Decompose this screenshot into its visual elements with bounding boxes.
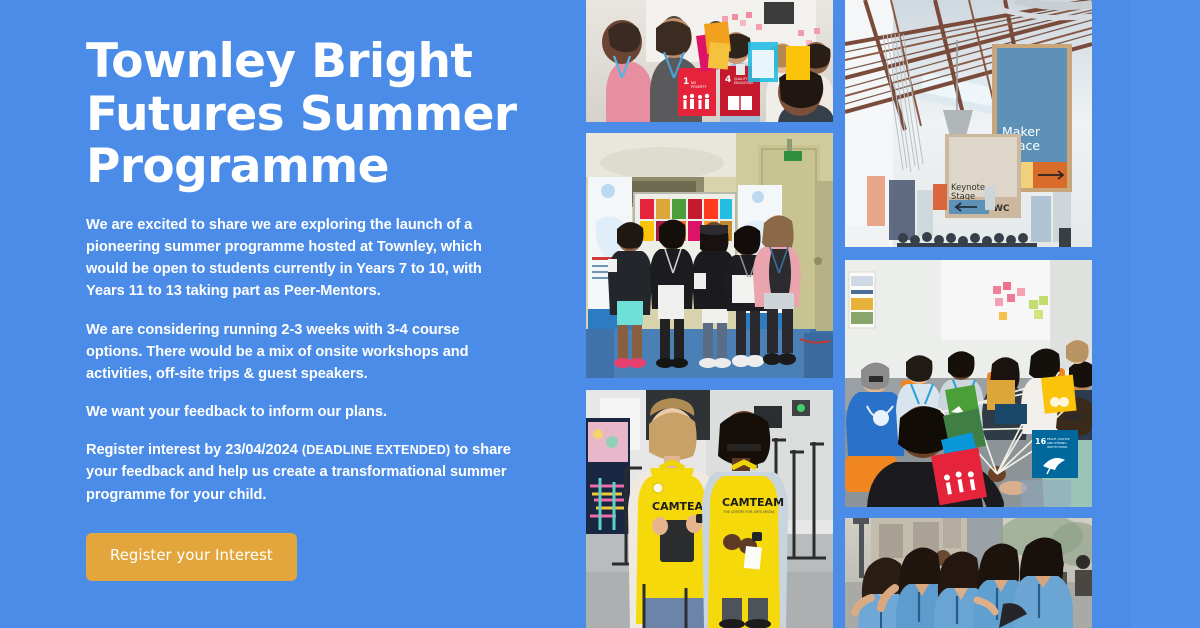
photo-string-web-workshop: 16 PEACE, JUSTICE AND STRONG INSTITUTION…: [845, 260, 1092, 507]
background-strip: [1131, 0, 1200, 628]
svg-text:POVERTY: POVERTY: [691, 85, 707, 89]
svg-text:1: 1: [683, 77, 689, 87]
hero-paragraph-1: We are excited to share we are exploring…: [86, 214, 518, 303]
photo-maker-space-venue: Maker Space Keynote Stage WC: [845, 0, 1092, 247]
photo-students-sdg-cards: 1 NO POVERTY 4 QUALITY EDUCATION: [586, 0, 833, 122]
deadline-emphasis: (DEADLINE EXTENDED): [302, 443, 451, 457]
svg-text:4: 4: [725, 75, 731, 85]
register-interest-button[interactable]: Register your Interest: [86, 533, 297, 581]
page-title: Townley Bright Futures Summer Programme: [86, 36, 526, 194]
deadline-text-before: Register interest by 23/04/2024: [86, 442, 302, 458]
photo-students-presenting: Five students standing side by side on a…: [586, 133, 833, 378]
svg-text:INSTITUTIONS: INSTITUTIONS: [1047, 445, 1067, 449]
hero-paragraph-3: We want your feedback to inform our plan…: [86, 401, 518, 423]
hero-content: Townley Bright Futures Summer Programme …: [86, 36, 526, 581]
photo-camteam-aprons: CAMTEAM C: [586, 390, 833, 628]
svg-text:Stage: Stage: [951, 191, 975, 201]
photo-students-blue-tshirts: Five students in light blue t-shirts wit…: [845, 518, 1092, 628]
svg-text:WC: WC: [993, 204, 1010, 214]
hero-paragraph-2: We are considering running 2-3 weeks wit…: [86, 319, 518, 386]
hero-deadline-paragraph: Register interest by 23/04/2024 (DEADLIN…: [86, 439, 514, 506]
svg-text:CAMTEAM: CAMTEAM: [722, 496, 784, 509]
svg-text:16: 16: [1035, 437, 1047, 446]
landing-page: Townley Bright Futures Summer Programme …: [0, 0, 1200, 628]
svg-text:THE CENTRE FOR ARTS MEDIA: THE CENTRE FOR ARTS MEDIA: [722, 510, 775, 514]
